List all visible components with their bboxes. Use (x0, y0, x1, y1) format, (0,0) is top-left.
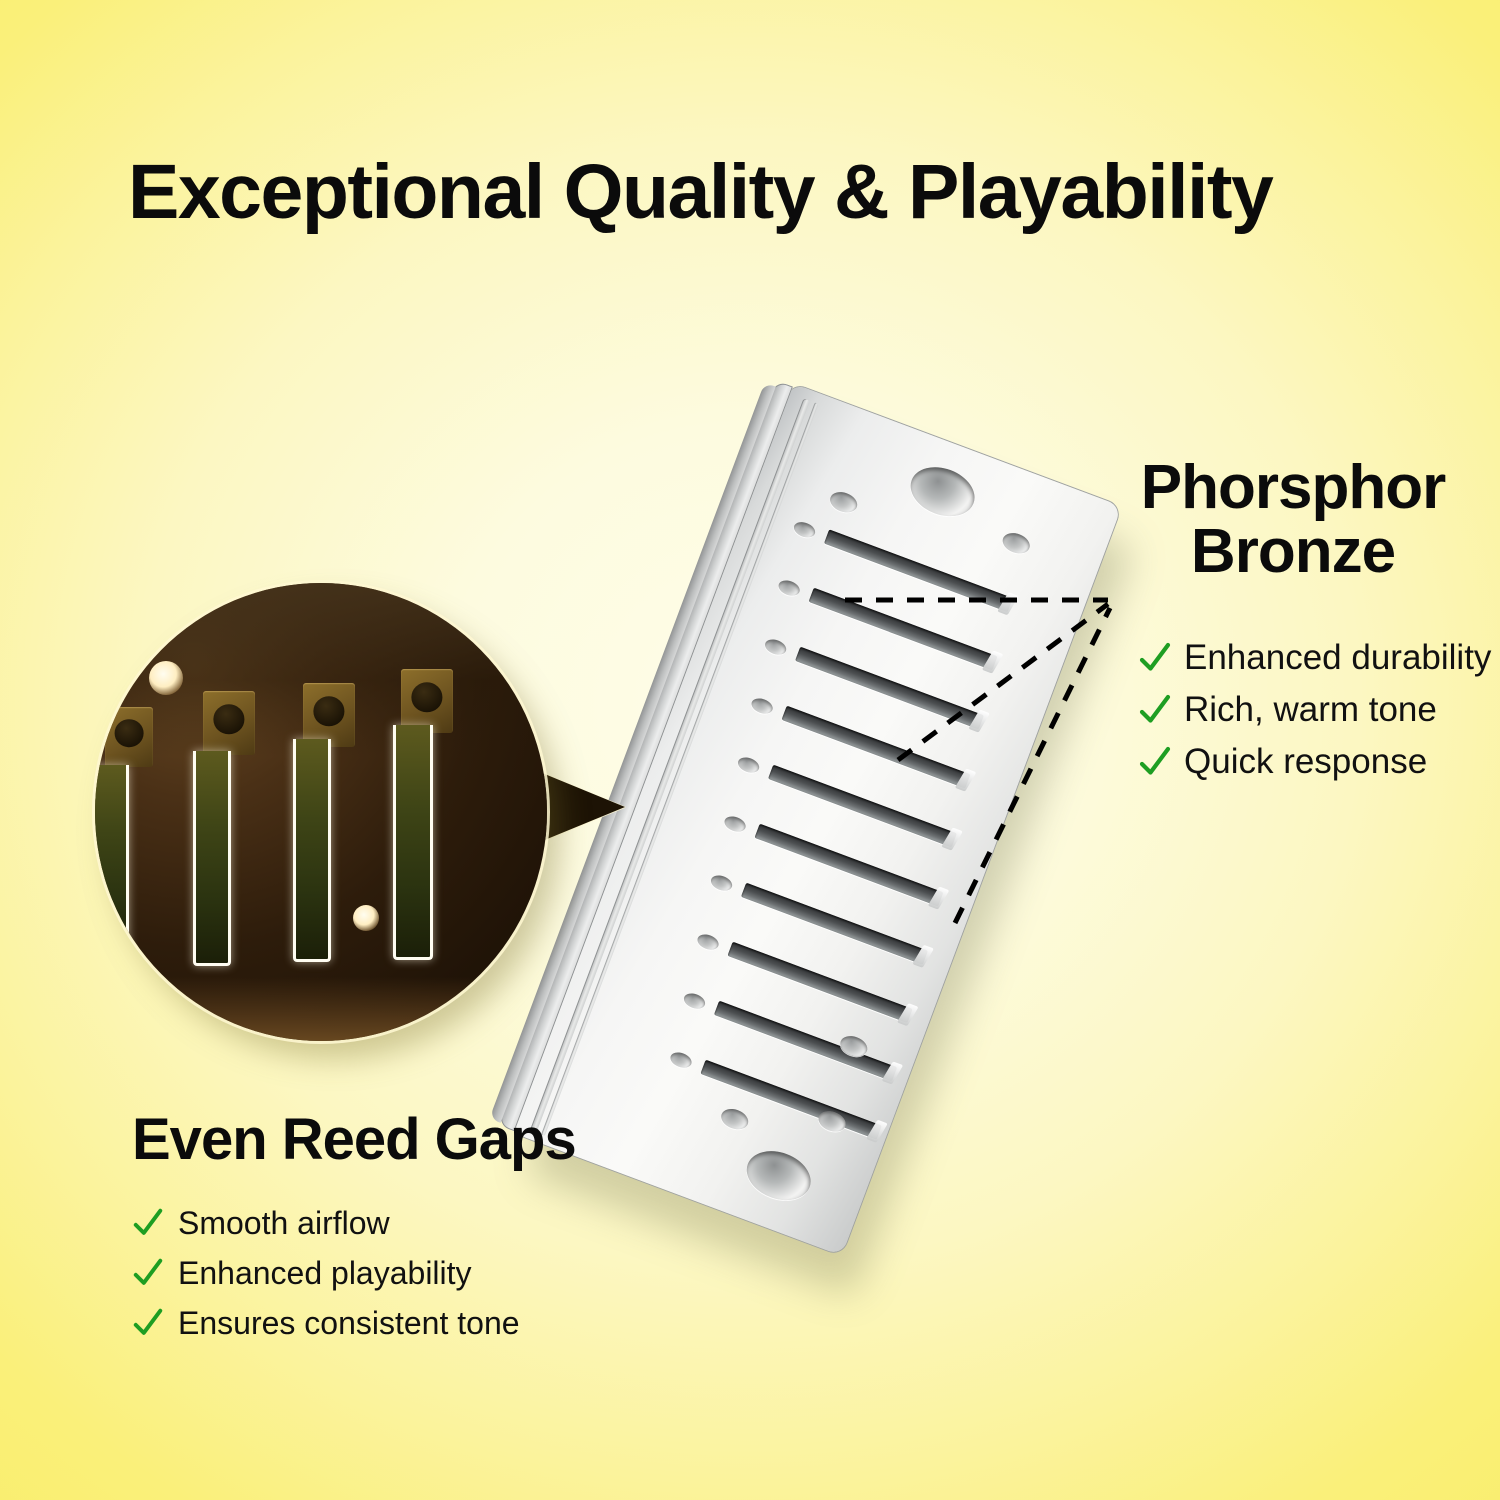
closeup-reed-slot (193, 751, 231, 966)
bullet-label: Enhanced playability (178, 1255, 472, 1292)
feature-heading-phosphor-bronze: Phorsphor Bronze (1108, 456, 1478, 584)
rivet-hole (776, 578, 802, 599)
rivet-hole (668, 1050, 694, 1071)
reed-slot (824, 529, 1013, 612)
reed-slot (755, 824, 944, 907)
bullet-label: Quick response (1184, 742, 1427, 782)
bullet-item: Rich, warm tone (1138, 684, 1491, 736)
rivet-hole (763, 637, 789, 658)
bullet-label: Ensures consistent tone (178, 1305, 520, 1342)
reed-slot (768, 765, 957, 848)
closeup-reed-slot (293, 739, 331, 962)
feature-bullets-even-reed-gaps: Smooth airflow Enhanced playability Ensu… (132, 1198, 520, 1348)
rivet-hole (736, 755, 762, 776)
rivet-hole-tl (827, 488, 860, 516)
rivet-hole (695, 932, 721, 953)
rivet-hole-tr (1000, 529, 1033, 557)
check-icon (1138, 745, 1172, 779)
check-icon (1138, 641, 1172, 675)
rivet-hole (722, 814, 748, 835)
screw-hole-top (904, 459, 982, 525)
rivet-hole (709, 873, 735, 894)
reed-slot (741, 883, 928, 965)
highlight-dot (353, 905, 379, 931)
closeup-rivet (203, 691, 255, 755)
rivet-hole (749, 696, 775, 717)
feature-heading-line: Even Reed Gaps (132, 1110, 576, 1170)
check-icon (1138, 693, 1172, 727)
check-icon (132, 1257, 164, 1289)
magnifier-lens (95, 583, 547, 1041)
bullet-item: Enhanced durability (1138, 632, 1491, 684)
magnifier-inset (95, 583, 547, 1041)
feature-bullets-phosphor-bronze: Enhanced durability Rich, warm tone Quic… (1138, 632, 1491, 788)
rivet-hole (792, 519, 818, 540)
reed-slot (782, 706, 971, 789)
bullet-item: Enhanced playability (132, 1248, 520, 1298)
lens-floor-shadow (95, 977, 547, 1041)
screw-hole-bottom (740, 1143, 818, 1209)
rivet-hole (682, 991, 708, 1012)
bullet-label: Enhanced durability (1184, 638, 1491, 678)
closeup-rivet (303, 683, 355, 747)
closeup-reed-slot (95, 765, 129, 956)
highlight-dot (149, 661, 183, 695)
feature-heading-even-reed-gaps: Even Reed Gaps (132, 1110, 576, 1170)
bullet-item: Ensures consistent tone (132, 1298, 520, 1348)
bullet-item: Smooth airflow (132, 1198, 520, 1248)
closeup-rivet (105, 707, 153, 767)
reed-slot (714, 1001, 897, 1082)
closeup-rivet (401, 669, 453, 733)
feature-heading-line: Phorsphor (1108, 456, 1478, 520)
infographic-canvas: Exceptional Quality & Playability (0, 0, 1500, 1500)
reed-slot (809, 588, 998, 671)
closeup-reed-slot (393, 725, 433, 960)
check-icon (132, 1207, 164, 1239)
check-icon (132, 1307, 164, 1339)
bullet-item: Quick response (1138, 736, 1491, 788)
reed-slot (795, 647, 984, 730)
rivet-hole-bl (718, 1105, 751, 1133)
feature-heading-line: Bronze (1108, 520, 1478, 584)
reed-slot (727, 942, 912, 1023)
bullet-label: Rich, warm tone (1184, 690, 1437, 730)
bullet-label: Smooth airflow (178, 1205, 390, 1242)
reed-slot (700, 1060, 881, 1140)
